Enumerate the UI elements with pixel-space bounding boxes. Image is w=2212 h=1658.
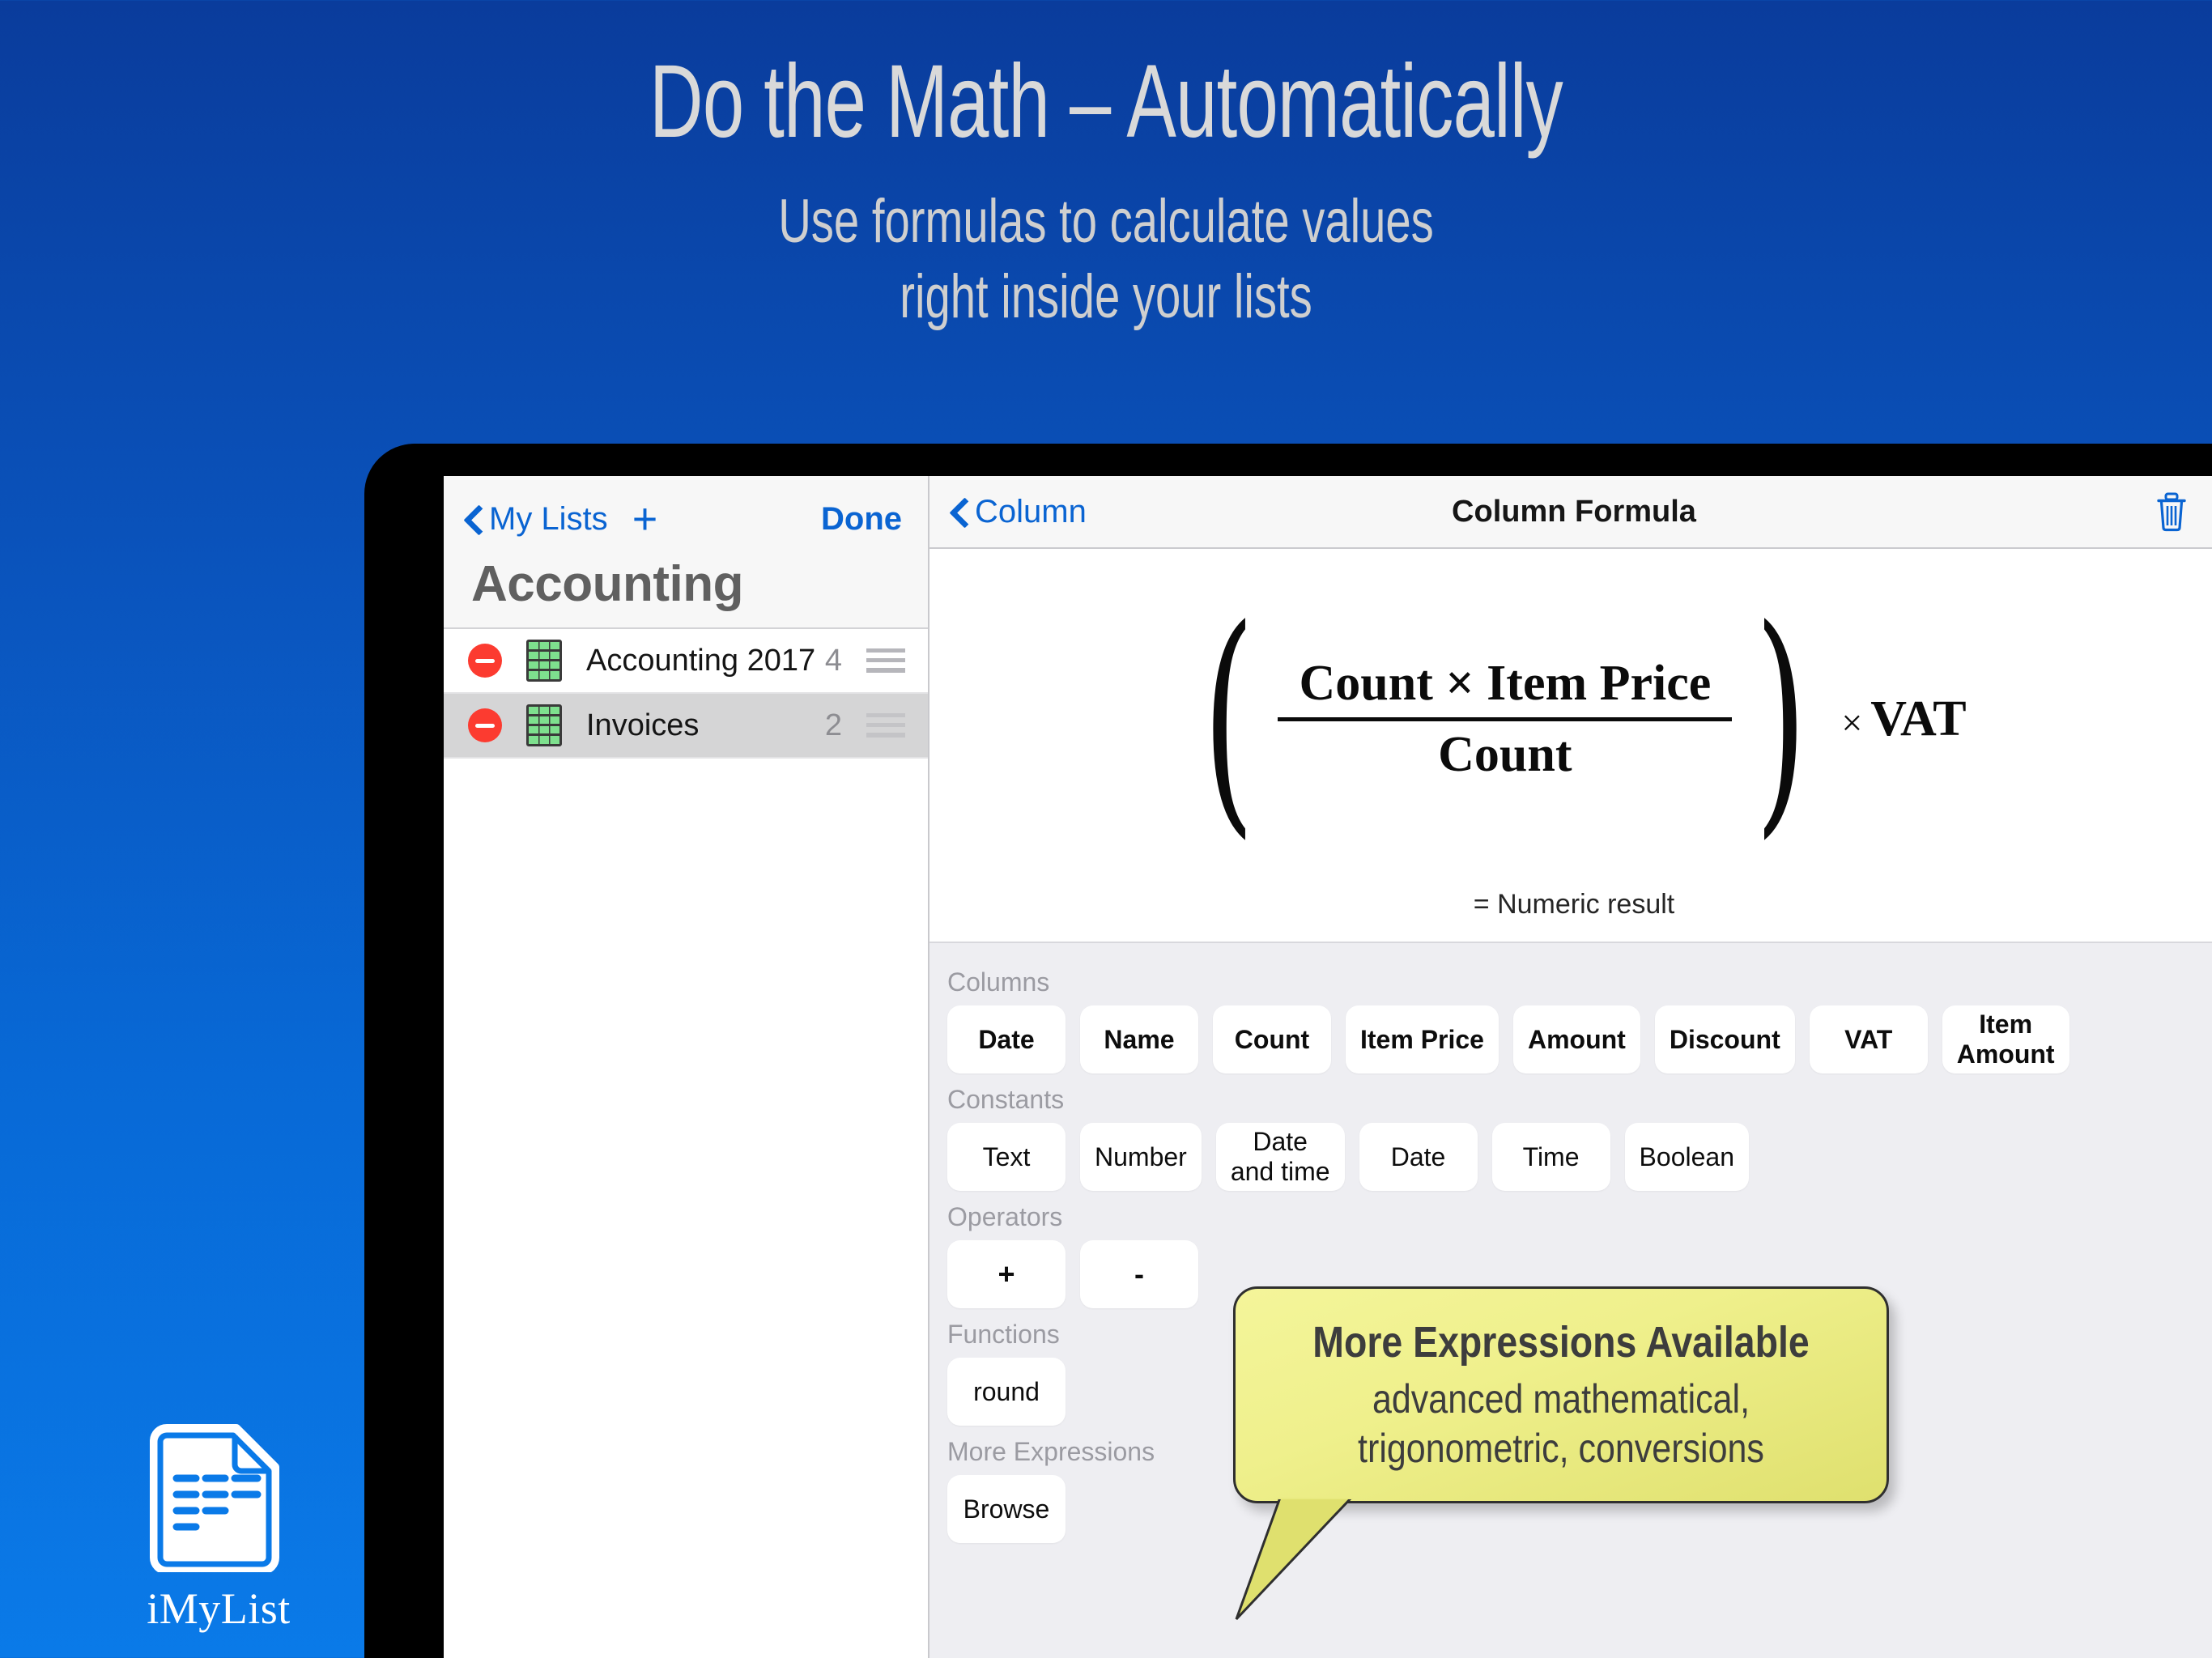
sidebar-navbar-row: My Lists + Done (444, 476, 928, 551)
reorder-handle-icon[interactable] (866, 648, 905, 673)
chip-date[interactable]: Date (947, 1005, 1066, 1073)
tablet-device-frame: My Lists + Done Accounting Accounting 20… (364, 444, 2212, 1658)
list-item-count: 4 (825, 644, 842, 678)
sidebar-navbar: My Lists + Done Accounting (444, 476, 928, 629)
sidebar-title: Accounting (444, 551, 928, 627)
detail-navbar: Column Column Formula (929, 476, 2212, 549)
list-item-label: Accounting 2017 (586, 644, 815, 678)
done-button[interactable]: Done (821, 501, 902, 538)
chip-amount[interactable]: Amount (1513, 1005, 1640, 1073)
section-label-functions: Functions (929, 1308, 2212, 1358)
formula-fraction: Count × Item Price Count (1278, 650, 1732, 789)
back-to-column-button[interactable]: Column (951, 494, 1087, 530)
list-item[interactable]: Accounting 2017 4 (444, 629, 928, 694)
formula-multiplicand: VAT (1870, 691, 1966, 746)
tablet-screen: My Lists + Done Accounting Accounting 20… (444, 476, 2212, 1658)
minus-circle-icon[interactable] (468, 644, 502, 678)
list-rows: Accounting 2017 4 Invoices 2 (444, 629, 928, 1658)
chip-number[interactable]: Number (1080, 1123, 1202, 1191)
chip-item-amount[interactable]: Item Amount (1942, 1005, 2069, 1073)
app-name: iMyList (97, 1584, 340, 1634)
add-list-button[interactable]: + (632, 503, 658, 535)
multiply-symbol: × (1833, 702, 1870, 743)
list-item-label: Invoices (586, 708, 699, 743)
section-label-more-expressions: More Expressions (929, 1426, 2212, 1475)
token-palette: Columns Date Name Count Item Price Amoun… (929, 942, 2212, 1658)
spreadsheet-icon (526, 640, 562, 682)
chip-date-constant[interactable]: Date (1359, 1123, 1478, 1191)
page-subtitle: Use formulas to calculate values right i… (287, 154, 1925, 334)
document-list-icon (139, 1414, 298, 1572)
back-to-my-lists-button[interactable]: My Lists (465, 501, 608, 538)
column-formula-panel: Column Column Formula ( (929, 476, 2212, 1658)
formula-numerator: Count × Item Price (1278, 650, 1732, 717)
back-button-label: Column (975, 494, 1087, 530)
chip-row-functions: round (929, 1358, 2212, 1426)
list-item-count: 2 (825, 708, 842, 743)
chip-row-more-expressions: Browse (929, 1475, 2212, 1543)
app-branding: iMyList (97, 1414, 340, 1634)
formula-close-paren: ) (1755, 624, 1807, 814)
promo-header: Do the Math – Automatically Use formulas… (0, 0, 2212, 437)
chip-discount[interactable]: Discount (1655, 1005, 1795, 1073)
panel-title: Column Formula (929, 495, 2212, 529)
minus-circle-icon[interactable] (468, 708, 502, 742)
chip-boolean[interactable]: Boolean (1625, 1123, 1749, 1191)
chip-browse[interactable]: Browse (947, 1475, 1066, 1543)
reorder-handle-icon[interactable] (866, 713, 905, 738)
section-label-operators: Operators (929, 1191, 2212, 1240)
formula-tail: ×VAT (1833, 691, 1966, 748)
chip-text[interactable]: Text (947, 1123, 1066, 1191)
chip-time[interactable]: Time (1492, 1123, 1610, 1191)
chevron-left-icon (465, 505, 481, 533)
formula-denominator: Count (1417, 721, 1593, 789)
chip-date-and-time[interactable]: Date and time (1216, 1123, 1345, 1191)
back-button-label: My Lists (489, 501, 608, 538)
section-label-constants: Constants (929, 1073, 2212, 1123)
chip-operator-plus[interactable]: + (947, 1240, 1066, 1308)
chip-name[interactable]: Name (1080, 1005, 1198, 1073)
chip-row-operators: + - (929, 1240, 2212, 1308)
chip-row-columns: Date Name Count Item Price Amount Discou… (929, 1005, 2212, 1073)
list-item[interactable]: Invoices 2 (444, 694, 928, 759)
lists-sidebar: My Lists + Done Accounting Accounting 20… (444, 476, 929, 1658)
formula-expression: ( Count × Item Price Count ) ×VAT (1181, 624, 1966, 814)
chip-function-round[interactable]: round (947, 1358, 1066, 1426)
formula-display[interactable]: ( Count × Item Price Count ) ×VAT (929, 549, 2212, 889)
chip-row-constants: Text Number Date and time Date Time Bool… (929, 1123, 2212, 1191)
spreadsheet-icon (526, 704, 562, 746)
chip-item-price[interactable]: Item Price (1346, 1005, 1499, 1073)
section-label-columns: Columns (929, 956, 2212, 1005)
chip-operator-minus[interactable]: - (1080, 1240, 1198, 1308)
trash-icon[interactable] (2154, 491, 2189, 532)
chip-count[interactable]: Count (1213, 1005, 1331, 1073)
formula-open-paren: ( (1203, 624, 1255, 814)
chip-vat[interactable]: VAT (1810, 1005, 1928, 1073)
page-title: Do the Math – Automatically (309, 0, 1902, 154)
chevron-left-icon (951, 498, 967, 525)
formula-result-type: = Numeric result (929, 889, 2212, 942)
